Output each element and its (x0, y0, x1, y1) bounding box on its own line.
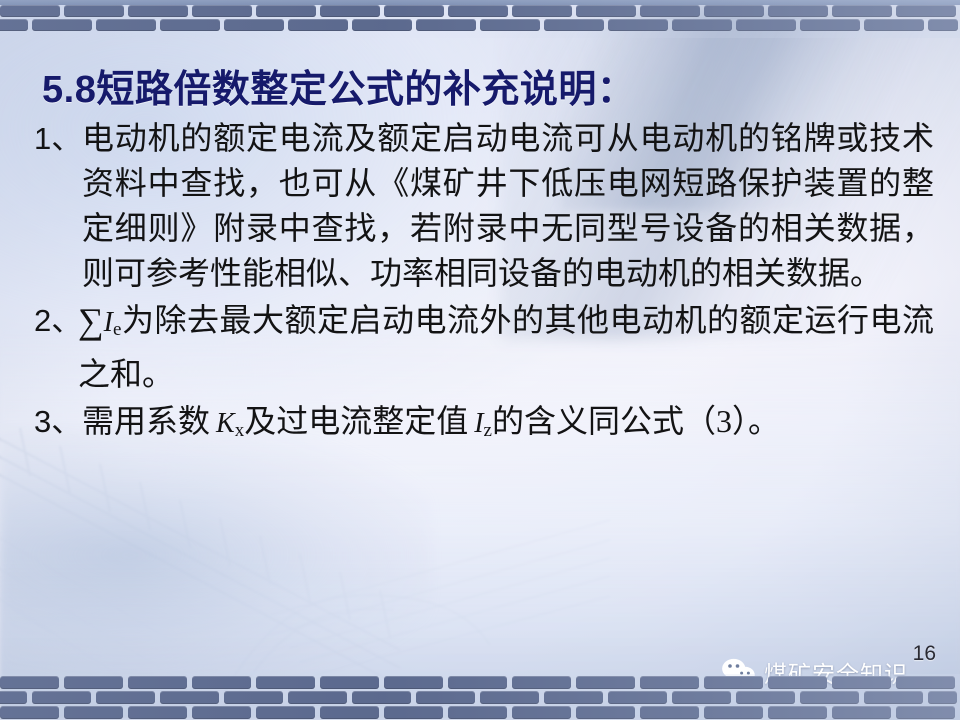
list-item-body-b: 及过电流整定值 (244, 403, 468, 439)
list-item: 3、 需用系数Kx及过电流整定值Iz的含义同公式（3）。 (34, 399, 934, 453)
brick (640, 706, 699, 719)
list-item-body-a: 需用系数 (82, 403, 210, 439)
variable-K-subscript: x (235, 420, 245, 441)
brick (352, 691, 411, 704)
variable-K: K (216, 408, 235, 439)
brick (288, 691, 347, 704)
list-item: 1、 电动机的额定电流及额定启动电流可从电动机的铭牌或技术资料中查找，也可从《煤… (34, 116, 934, 296)
brick (0, 706, 59, 719)
brick (448, 676, 507, 689)
brick (672, 691, 731, 704)
brick (576, 676, 635, 689)
brick (384, 676, 443, 689)
list-item-marker: 2、 (34, 298, 82, 343)
brick (0, 691, 27, 704)
brick (768, 706, 827, 719)
variable-I: I (104, 307, 113, 338)
brick (0, 676, 59, 689)
brick (416, 691, 475, 704)
brick (480, 691, 539, 704)
brick (608, 691, 667, 704)
brick (768, 676, 827, 689)
brick-row (0, 706, 960, 719)
brick (896, 706, 955, 719)
variable-I2: I (474, 408, 483, 439)
brick (896, 676, 955, 689)
brick (160, 691, 219, 704)
brick (704, 676, 763, 689)
brick-row (0, 676, 960, 689)
list-item-marker: 1、 (34, 116, 82, 161)
slide-content: 5.8短路倍数整定公式的补充说明： 1、 电动机的额定电流及额定启动电流可从电动… (0, 0, 960, 720)
brick (736, 691, 795, 704)
brick (544, 691, 603, 704)
brick (512, 706, 571, 719)
brick (320, 676, 379, 689)
list-item-body-c: 的含义同公式（3）。 (492, 403, 780, 439)
brick (512, 676, 571, 689)
brick (704, 706, 763, 719)
brick (832, 676, 891, 689)
brick (832, 706, 891, 719)
brick (192, 676, 251, 689)
list-item-text: 需用系数Kx及过电流整定值Iz的含义同公式（3）。 (82, 399, 934, 453)
brick-row (0, 691, 960, 704)
brick (128, 676, 187, 689)
title-text: 短路倍数整定公式的补充说明： (96, 69, 635, 111)
brick (96, 691, 155, 704)
list-item-text: 电动机的额定电流及额定启动电流可从电动机的铭牌或技术资料中查找，也可从《煤矿井下… (82, 116, 934, 296)
body-list: 1、 电动机的额定电流及额定启动电流可从电动机的铭牌或技术资料中查找，也可从《煤… (34, 116, 934, 455)
list-item-body: 为除去最大额定启动电流外的其他电动机的额定运行电流之和。 (78, 302, 934, 392)
variable-I2-subscript: z (484, 420, 492, 441)
brick (576, 706, 635, 719)
brick (864, 691, 923, 704)
brick (128, 706, 187, 719)
bottom-brick-border (0, 674, 960, 720)
list-item: 2、 ∑Ie为除去最大额定启动电流外的其他电动机的额定运行电流之和。 (34, 298, 934, 397)
brick (224, 691, 283, 704)
brick (928, 691, 957, 704)
brick (192, 706, 251, 719)
brick (448, 706, 507, 719)
brick (32, 691, 91, 704)
page-number: 16 (913, 642, 936, 666)
list-item-text: ∑Ie为除去最大额定启动电流外的其他电动机的额定运行电流之和。 (78, 298, 934, 397)
brick (256, 706, 315, 719)
brick (64, 706, 123, 719)
presentation-slide: 5.8短路倍数整定公式的补充说明： 1、 电动机的额定电流及额定启动电流可从电动… (0, 0, 960, 720)
brick (320, 706, 379, 719)
brick (640, 676, 699, 689)
list-item-marker: 3、 (34, 399, 82, 444)
brick (384, 706, 443, 719)
title-number: 5.8 (42, 69, 96, 111)
brick (64, 676, 123, 689)
page-title: 5.8短路倍数整定公式的补充说明： (42, 58, 635, 113)
brick (256, 676, 315, 689)
brick (800, 691, 859, 704)
